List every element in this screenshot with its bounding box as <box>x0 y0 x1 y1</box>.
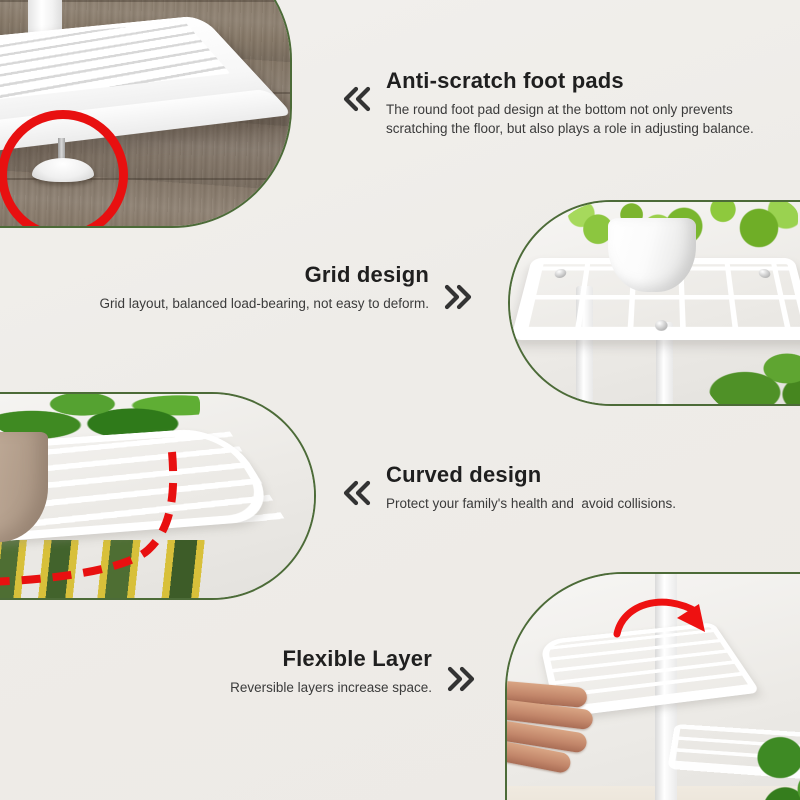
feature-description: Grid layout, balanced load-bearing, not … <box>57 294 429 313</box>
chevron-double-left-icon <box>340 86 374 116</box>
feature-description: Protect your family's health and avoid c… <box>386 494 776 513</box>
chevron-double-right-icon <box>444 666 478 696</box>
feature-description: The round foot pad design at the bottom … <box>386 100 768 138</box>
photo-panel-foot-pad <box>0 0 292 228</box>
chevron-double-right-icon <box>441 284 475 314</box>
photo-foot-pad-on-wood-floor <box>0 0 290 226</box>
feature-flexible-layer: Flexible Layer Reversible layers increas… <box>58 646 478 697</box>
photo-panel-flexible-layer <box>505 572 800 800</box>
feature-description: Reversible layers increase space. <box>92 678 432 697</box>
photo-hand-flipping-shelf <box>507 574 800 800</box>
photo-panel-curved-design <box>0 392 316 600</box>
feature-title: Flexible Layer <box>92 646 432 672</box>
feature-title: Anti-scratch foot pads <box>386 68 768 94</box>
hand <box>507 682 621 778</box>
photo-grid-shelf-with-potted-plant <box>510 202 800 404</box>
feature-anti-scratch-foot-pads: Anti-scratch foot pads The round foot pa… <box>340 68 790 138</box>
screw <box>655 320 668 331</box>
chevron-double-left-icon <box>340 480 374 510</box>
feature-grid-design: Grid design Grid layout, balanced load-b… <box>20 262 475 314</box>
feature-curved-design: Curved design Protect your family's heal… <box>340 462 795 513</box>
photo-curved-shelf-corner <box>0 394 314 598</box>
feature-title: Curved design <box>386 462 776 488</box>
product-feature-infographic: Anti-scratch foot pads The round foot pa… <box>0 0 800 800</box>
photo-panel-grid-design <box>508 200 800 406</box>
feature-title: Grid design <box>57 262 429 288</box>
red-curved-arrow-annotation <box>611 588 731 668</box>
red-dashed-curve-annotation <box>0 446 180 596</box>
